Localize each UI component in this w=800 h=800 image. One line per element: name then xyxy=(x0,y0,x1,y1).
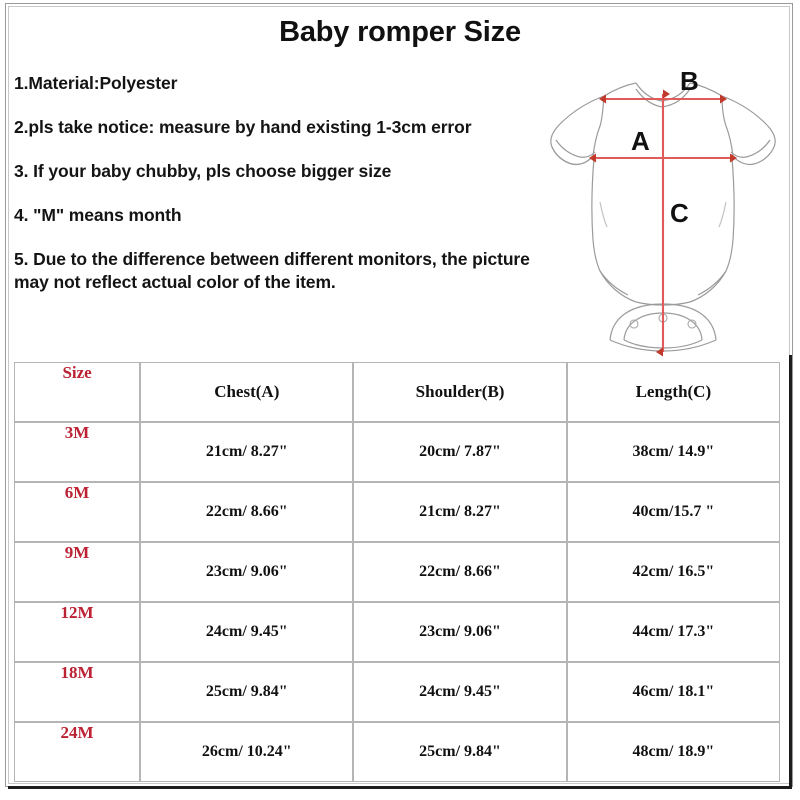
frame-bottom-rule xyxy=(8,786,792,789)
romper-illustration: B A C xyxy=(538,52,788,357)
label-a: A xyxy=(631,126,650,156)
row-chest: 26cm/ 10.24" xyxy=(140,722,353,782)
row-length: 46cm/ 18.1" xyxy=(567,662,780,722)
romper-diagram: B A C xyxy=(538,52,788,357)
table-row: 6M 22cm/ 8.66" 21cm/ 8.27" 40cm/15.7 " xyxy=(14,482,780,542)
row-chest: 25cm/ 9.84" xyxy=(140,662,353,722)
row-length: 38cm/ 14.9" xyxy=(567,422,780,482)
row-length: 44cm/ 17.3" xyxy=(567,602,780,662)
note-item-3: 3. If your baby chubby, pls choose bigge… xyxy=(14,160,534,183)
page-title: Baby romper Size xyxy=(0,16,800,49)
row-size: 9M xyxy=(14,542,140,602)
row-size: 12M xyxy=(14,602,140,662)
row-size: 18M xyxy=(14,662,140,722)
row-shoulder: 24cm/ 9.45" xyxy=(353,662,566,722)
row-shoulder: 21cm/ 8.27" xyxy=(353,482,566,542)
row-chest: 21cm/ 8.27" xyxy=(140,422,353,482)
header-chest: Chest(A) xyxy=(140,362,353,422)
row-length: 40cm/15.7 " xyxy=(567,482,780,542)
note-item-5: 5. Due to the difference between differe… xyxy=(14,248,534,294)
row-length: 42cm/ 16.5" xyxy=(567,542,780,602)
table-header-row: Size Chest(A) Shoulder(B) Length(C) xyxy=(14,362,780,422)
row-size: 6M xyxy=(14,482,140,542)
measure-arrows xyxy=(596,94,730,352)
header-size: Size xyxy=(14,362,140,422)
row-chest: 23cm/ 9.06" xyxy=(140,542,353,602)
note-item-2: 2.pls take notice: measure by hand exist… xyxy=(14,116,534,139)
frame-right-rule xyxy=(789,355,792,789)
row-size: 24M xyxy=(14,722,140,782)
label-c: C xyxy=(670,198,689,228)
header-shoulder: Shoulder(B) xyxy=(353,362,566,422)
row-length: 48cm/ 18.9" xyxy=(567,722,780,782)
row-shoulder: 22cm/ 8.66" xyxy=(353,542,566,602)
note-item-1: 1.Material:Polyester xyxy=(14,72,534,95)
label-b: B xyxy=(680,66,699,96)
size-chart-page: Baby romper Size 1.Material:Polyester 2.… xyxy=(0,0,800,800)
row-shoulder: 23cm/ 9.06" xyxy=(353,602,566,662)
row-shoulder: 25cm/ 9.84" xyxy=(353,722,566,782)
table-row: 24M 26cm/ 10.24" 25cm/ 9.84" 48cm/ 18.9" xyxy=(14,722,780,782)
notes-list: 1.Material:Polyester 2.pls take notice: … xyxy=(14,72,534,295)
table-row: 3M 21cm/ 8.27" 20cm/ 7.87" 38cm/ 14.9" xyxy=(14,422,780,482)
header-length: Length(C) xyxy=(567,362,780,422)
row-size: 3M xyxy=(14,422,140,482)
table-row: 12M 24cm/ 9.45" 23cm/ 9.06" 44cm/ 17.3" xyxy=(14,602,780,662)
row-chest: 22cm/ 8.66" xyxy=(140,482,353,542)
row-chest: 24cm/ 9.45" xyxy=(140,602,353,662)
table-row: 18M 25cm/ 9.84" 24cm/ 9.45" 46cm/ 18.1" xyxy=(14,662,780,722)
row-shoulder: 20cm/ 7.87" xyxy=(353,422,566,482)
size-table: Size Chest(A) Shoulder(B) Length(C) 3M 2… xyxy=(14,362,780,782)
table-row: 9M 23cm/ 9.06" 22cm/ 8.66" 42cm/ 16.5" xyxy=(14,542,780,602)
note-item-4: 4. "M" means month xyxy=(14,204,534,227)
